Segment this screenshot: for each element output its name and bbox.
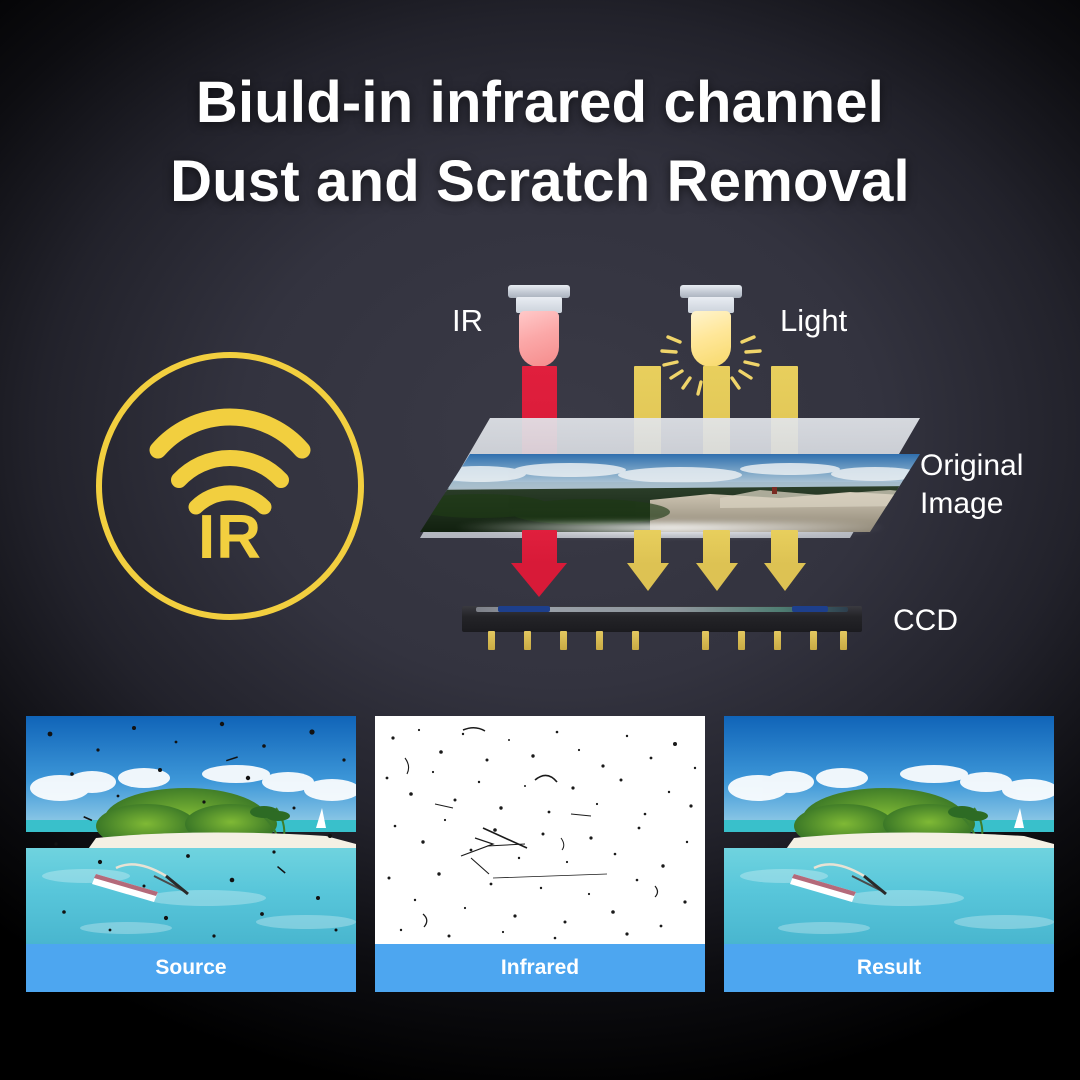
ccd-pin <box>702 631 709 650</box>
ir-lamp-icon <box>508 285 570 369</box>
panel-source[interactable]: Source <box>26 716 356 992</box>
ccd-pin <box>840 631 847 650</box>
original-image-label: Original Image <box>920 447 1023 524</box>
ccd-pin <box>632 631 639 650</box>
panel-source-image <box>26 716 356 944</box>
ir-lamp-bulb <box>519 311 559 367</box>
light-beam-lower-1 <box>634 530 661 564</box>
ir-scanning-diagram: IR <box>0 0 1080 700</box>
ccd-pin <box>738 631 745 650</box>
light-beam-lower-3 <box>771 530 798 564</box>
ccd-label: CCD <box>893 602 958 640</box>
panel-result-image <box>724 716 1054 944</box>
light-beam-lower-2 <box>703 530 730 564</box>
comparison-panels: Source <box>0 716 1080 996</box>
ir-lamp-label: IR <box>452 303 483 339</box>
light-lamp-icon <box>680 285 742 369</box>
ccd-sensor <box>462 600 862 646</box>
light-beam-arrowhead-2 <box>696 563 738 591</box>
light-beam-arrowhead-3 <box>764 563 806 591</box>
light-lamp-bulb <box>691 311 731 367</box>
infographic-page: Biuld-in infrared channel Dust and Scrat… <box>0 0 1080 1080</box>
panel-infrared[interactable]: Infrared <box>375 716 705 992</box>
ccd-pin <box>524 631 531 650</box>
panel-infrared-caption: Infrared <box>375 944 705 992</box>
panel-source-caption: Source <box>26 944 356 992</box>
ir-beam-arrowhead <box>511 563 567 597</box>
slab-glow <box>428 522 912 536</box>
ir-beam-lower <box>522 530 557 564</box>
panel-result[interactable]: Result <box>724 716 1054 992</box>
panel-infrared-image <box>375 716 705 944</box>
slab-landscape-photo <box>420 454 920 532</box>
light-beam-arrowhead-1 <box>627 563 669 591</box>
original-image-slab <box>420 418 920 538</box>
ccd-strip-segment-right <box>792 606 828 612</box>
ccd-pin <box>560 631 567 650</box>
light-lamp-label: Light <box>780 303 847 339</box>
ccd-pin <box>596 631 603 650</box>
ccd-strip-segment-left <box>498 606 550 612</box>
ccd-pin <box>488 631 495 650</box>
panel-result-caption: Result <box>724 944 1054 992</box>
ccd-pin <box>774 631 781 650</box>
ccd-pin <box>810 631 817 650</box>
